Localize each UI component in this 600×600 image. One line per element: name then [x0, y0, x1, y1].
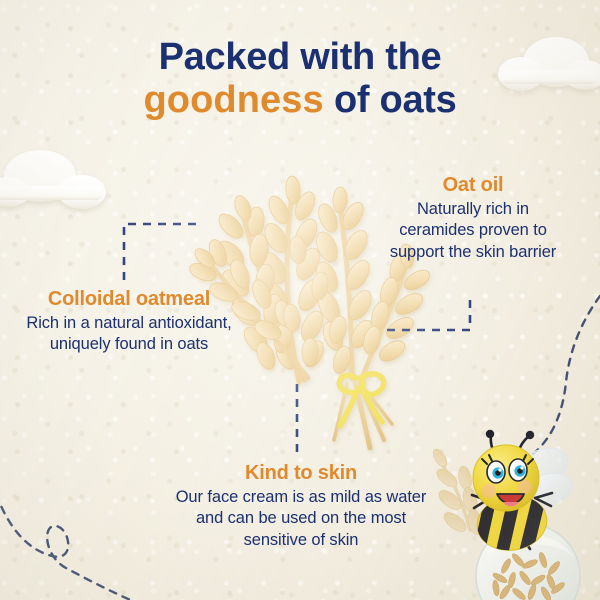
bee-mouth [497, 494, 524, 507]
bee-flight-path-right [522, 296, 600, 462]
title-line-2: goodness of oats [0, 81, 600, 121]
bee-antennae [491, 436, 528, 461]
bee-cheek-left [482, 484, 496, 498]
bee-flight-path-left [0, 494, 140, 600]
wheat-stems [334, 382, 392, 452]
callout-colloidal-oatmeal-body: Rich in a natural antioxidant, uniquely … [16, 313, 242, 356]
oat-grains [492, 551, 567, 600]
callout-kind-to-skin-heading: Kind to skin [168, 462, 434, 485]
callout-colloidal-oatmeal-heading: Colloidal oatmeal [16, 288, 242, 311]
cloud-left-icon [0, 150, 106, 209]
connector-colloidal-oatmeal [124, 224, 196, 283]
callout-oat-oil-heading: Oat oil [378, 174, 568, 197]
callout-kind-to-skin-body: Our face cream is as mild as water and c… [168, 487, 434, 551]
bee-eyelashes [482, 455, 533, 464]
bee-antenna-tip-left [486, 430, 494, 438]
wheat-stalk-illustration [430, 447, 484, 536]
callout-oat-oil: Oat oil Naturally rich in ceramides prov… [378, 174, 568, 263]
bee-body [472, 489, 551, 556]
title-line-2-highlight: goodness [144, 79, 324, 121]
bee-legs [472, 493, 552, 549]
bee-antenna-tip-right [526, 431, 534, 439]
infographic-canvas: Packed with the goodness of oats Oat oil… [0, 0, 600, 600]
oat-jar-illustration [476, 524, 580, 600]
wheat-bow-icon [339, 374, 383, 426]
title-line-1: Packed with the [0, 38, 600, 78]
callout-oat-oil-body: Naturally rich in ceramides proven to su… [378, 199, 568, 263]
connector-oat-oil [386, 300, 470, 330]
bee-eyes [487, 459, 527, 483]
callout-kind-to-skin: Kind to skin Our face cream is as mild a… [168, 462, 434, 551]
page-title: Packed with the goodness of oats [0, 38, 600, 120]
bee-head [473, 445, 539, 511]
bee-wings [505, 439, 576, 509]
callout-colloidal-oatmeal: Colloidal oatmeal Rich in a natural anti… [16, 288, 242, 356]
bee-illustration [472, 430, 576, 556]
bee-cheek-right [518, 480, 532, 494]
title-line-2-rest: of oats [324, 79, 457, 121]
